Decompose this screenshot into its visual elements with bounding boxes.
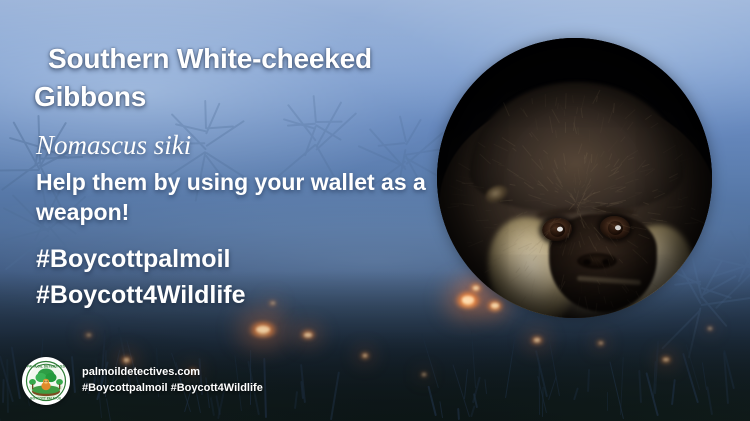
page-title: Southern White-cheeked Gibbons — [48, 40, 448, 116]
footer-hashtags: #Boycottpalmoil #Boycott4Wildlife — [82, 381, 263, 397]
portrait-vignette — [437, 38, 712, 318]
body-line-1: Help them by using your wallet as a — [36, 168, 456, 198]
call-to-action-text: Help them by using your wallet as a weap… — [36, 168, 456, 228]
scientific-name: Nomascus siki — [36, 130, 191, 161]
gibbon-portrait-circle — [437, 38, 712, 318]
hashtag-boycottpalmoil: #Boycottpalmoil — [36, 242, 246, 278]
hashtag-boycott4wildlife: #Boycott4Wildlife — [36, 278, 246, 314]
svg-text:BOYCOTT PALM OIL: BOYCOTT PALM OIL — [30, 397, 62, 401]
palm-oil-detectives-logo-icon: PALM OIL DETECTIVES BOYCOTT PALM OIL — [22, 357, 70, 405]
body-line-2: weapon! — [36, 198, 456, 228]
poster-canvas: Southern White-cheeked Gibbons Nomascus … — [0, 0, 750, 421]
title-line-2: Gibbons — [34, 78, 448, 116]
title-line-1: Southern White-cheeked — [48, 43, 372, 74]
svg-text:PALM OIL DETECTIVES: PALM OIL DETECTIVES — [27, 364, 66, 368]
footer-branding: PALM OIL DETECTIVES BOYCOTT PALM OIL pal… — [22, 357, 263, 405]
footer-website: palmoildetectives.com — [82, 365, 263, 381]
footer-text: palmoildetectives.com #Boycottpalmoil #B… — [82, 365, 263, 397]
hashtag-group: #Boycottpalmoil #Boycott4Wildlife — [36, 242, 246, 313]
